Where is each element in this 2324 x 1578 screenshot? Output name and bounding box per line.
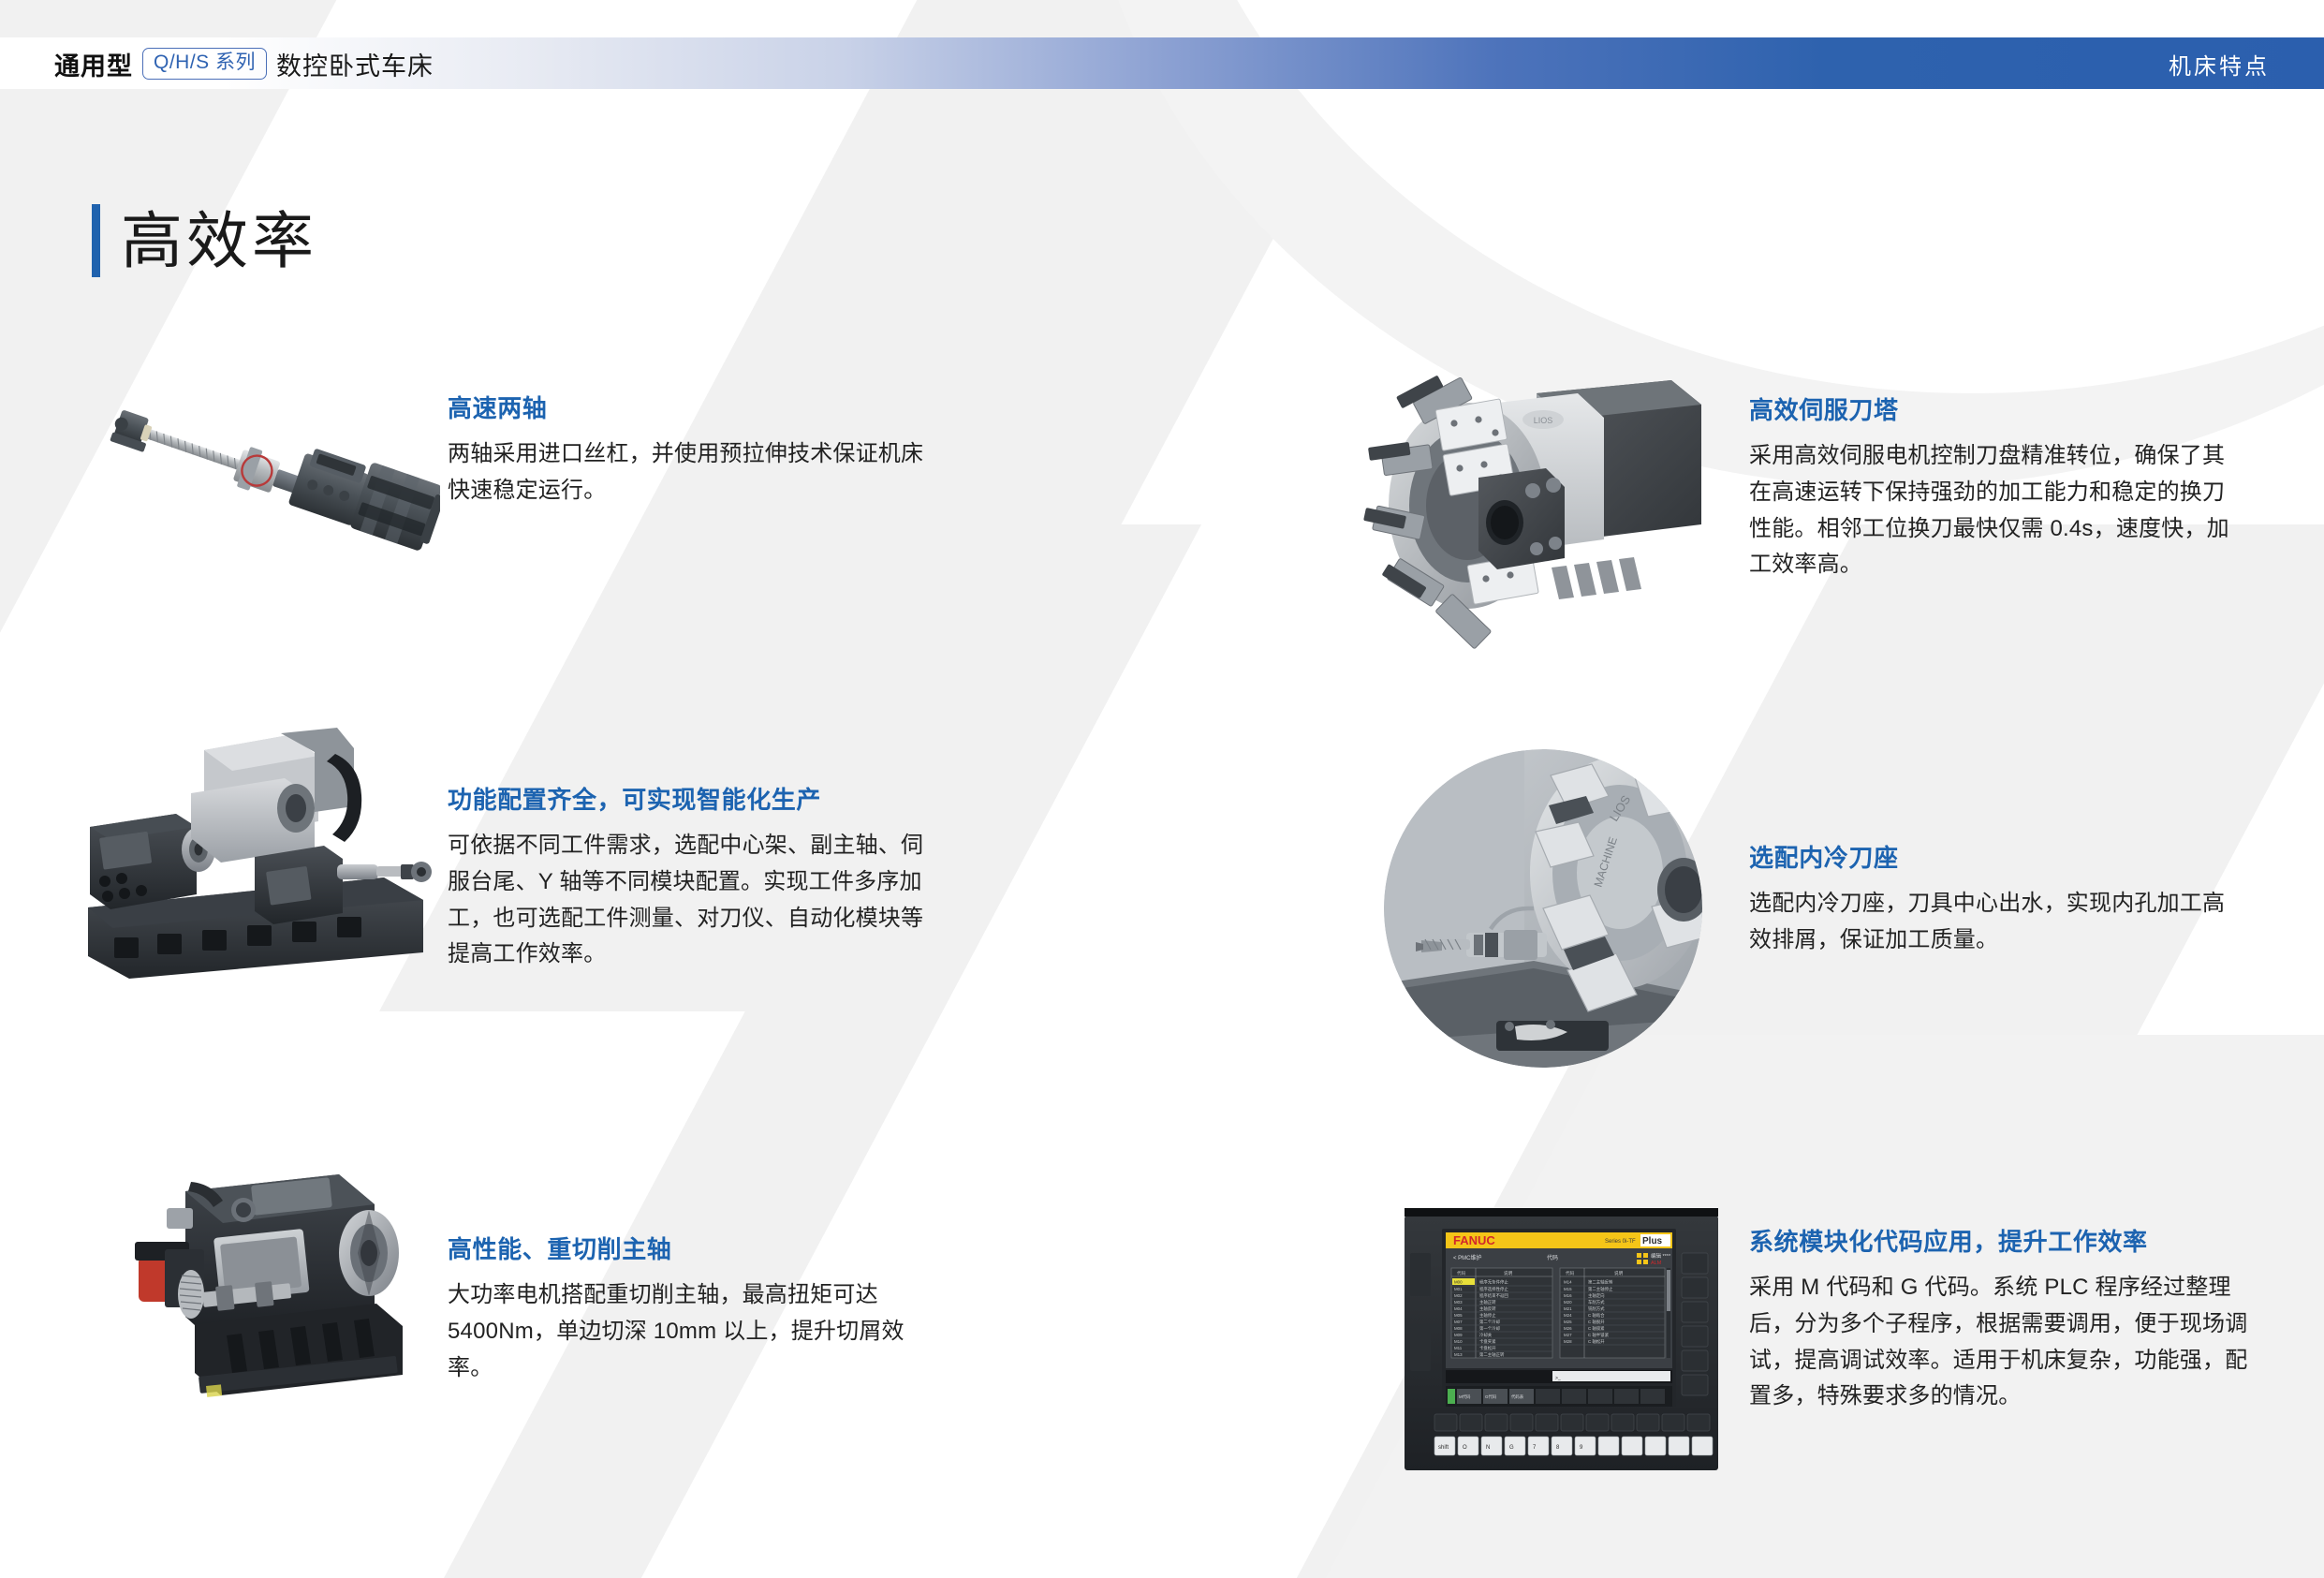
cnc-plus-label: Plus (1642, 1236, 1663, 1246)
svg-text:C 轴锁紧: C 轴锁紧 (1588, 1325, 1605, 1332)
feature-body: 两轴采用进口丝杠，并使用预拉伸技术保证机床快速稳定运行。 (448, 436, 934, 509)
svg-text:M代码: M代码 (1459, 1394, 1471, 1400)
svg-text:程序结束不返回: 程序结束不返回 (1479, 1292, 1508, 1299)
page-title: 高效率 (92, 204, 317, 277)
feature-body: 大功率电机搭配重切削主轴，最高扭矩可达 5400Nm，单边切深 10mm 以上，… (448, 1277, 944, 1387)
cnc-series-label: Series 0i-TF (1605, 1239, 1636, 1245)
heavy-cutting-spindle-photo (94, 1152, 431, 1405)
header-series-chip: Q/H/S 系列 (142, 48, 267, 80)
svg-text:代码表: 代码表 (1511, 1394, 1524, 1400)
svg-text:主轴反转: 主轴反转 (1479, 1305, 1496, 1312)
svg-text:O: O (1463, 1445, 1467, 1451)
feature-title: 系统模块化代码应用，提升工作效率 (1749, 1227, 2259, 1259)
svg-text:M21: M21 (1564, 1306, 1572, 1311)
feature-block-modular-code-system: 系统模块化代码应用，提升工作效率 采用 M 代码和 G 代码。系统 PLC 程序… (1749, 1227, 2259, 1415)
svg-text:铣削方式: 铣削方式 (1588, 1305, 1605, 1312)
svg-text:M02: M02 (1454, 1293, 1463, 1298)
header-brand-rest: 数控卧式车床 (276, 46, 434, 82)
svg-text:M20: M20 (1564, 1300, 1572, 1305)
svg-text:M00: M00 (1454, 1280, 1463, 1285)
svg-text:说明: 说明 (1614, 1270, 1624, 1276)
svg-text:卡盘松开: 卡盘松开 (1479, 1345, 1496, 1351)
section-accent-bar (92, 204, 100, 277)
svg-text:C 轴啮合: C 轴啮合 (1588, 1312, 1605, 1319)
svg-text:M11: M11 (1454, 1346, 1463, 1350)
svg-text:第二主轴正转: 第二主轴正转 (1479, 1351, 1505, 1358)
svg-text:C 轴松开: C 轴松开 (1588, 1338, 1605, 1345)
ball-screw-servo-axis-photo (66, 375, 440, 562)
feature-body: 可依据不同工件需求，选配中心架、副主轴、伺服台尾、Y 轴等不同模块配置。实现工件… (448, 828, 944, 974)
svg-text:程序选择性停止: 程序选择性停止 (1479, 1286, 1508, 1292)
svg-text:代码: 代码 (1457, 1270, 1466, 1276)
cnc-soft-keys: M代码 G代码 代码表 (1448, 1389, 1665, 1404)
svg-text:程序无条件停止: 程序无条件停止 (1479, 1279, 1508, 1286)
cnc-nav-label: < PMC维护 (1453, 1254, 1482, 1261)
feature-body: 采用 M 代码和 G 代码。系统 PLC 程序经过整理后，分为多个子程序，根据需… (1749, 1270, 2259, 1416)
feature-block-high-speed-two-axis: 高速两轴 两轴采用进口丝杠，并使用预拉伸技术保证机床快速稳定运行。 (448, 393, 934, 509)
svg-text:说明: 说明 (1504, 1270, 1513, 1276)
circular-photo-mask: LIOS MACHINE (1384, 749, 1702, 1068)
feature-block-high-performance-spindle: 高性能、重切削主轴 大功率电机搭配重切削主轴，最高扭矩可达 5400Nm，单边切… (448, 1234, 944, 1386)
svg-text:卡盘夹紧: 卡盘夹紧 (1479, 1338, 1496, 1345)
internal-coolant-tool-holder-photo: LIOS MACHINE (1384, 749, 1702, 1068)
svg-text:第二个冷却: 第二个冷却 (1479, 1319, 1501, 1325)
feature-title: 功能配置齐全，可实现智能化生产 (448, 785, 944, 817)
svg-text:M09: M09 (1454, 1333, 1463, 1337)
feature-title: 选配内冷刀座 (1749, 843, 2236, 875)
svg-text:M13: M13 (1454, 1352, 1463, 1357)
section-title-text: 高效率 (121, 210, 317, 272)
svg-text:M01: M01 (1454, 1287, 1463, 1291)
feature-title: 高效伺服刀塔 (1749, 395, 2241, 427)
header-brand-line: 通用型 Q/H/S 系列 数控卧式车床 (54, 39, 434, 88)
svg-text:G代码: G代码 (1485, 1394, 1497, 1400)
feature-block-internal-coolant-holder: 选配内冷刀座 选配内冷刀座，刀具中心出水，实现内孔加工高效排屑，保证加工质量。 (1749, 843, 2236, 959)
bg-diagonal-band-right (307, 524, 2324, 1578)
cnc-brand-label: FANUC (1453, 1233, 1495, 1247)
svg-text:M03: M03 (1454, 1300, 1463, 1305)
feature-body: 采用高效伺服电机控制刀盘精准转位，确保了其在高速运转下保持强劲的加工能力和稳定的… (1749, 438, 2241, 584)
header-brand-strong: 通用型 (54, 46, 133, 82)
svg-text:N: N (1486, 1445, 1490, 1451)
svg-text:主轴定向: 主轴定向 (1588, 1292, 1605, 1299)
svg-text:>_: >_ (1555, 1376, 1561, 1381)
svg-text:LIOS: LIOS (1534, 416, 1553, 425)
feature-title: 高速两轴 (448, 393, 934, 425)
feature-body: 选配内冷刀座，刀具中心出水，实现内孔加工高效排屑，保证加工质量。 (1749, 886, 2236, 959)
svg-text:M28: M28 (1564, 1339, 1572, 1344)
header-section-tab: 机床特点 (2169, 39, 2270, 88)
svg-text:编辑 ****: 编辑 **** (1651, 1252, 1671, 1260)
svg-text:C 轴半锁紧: C 轴半锁紧 (1588, 1332, 1610, 1338)
svg-text:M08: M08 (1454, 1326, 1463, 1331)
cnc-lathe-bed-module-photo (56, 707, 440, 988)
svg-text:M05: M05 (1454, 1313, 1463, 1318)
cnc-center-label: 代码 (1547, 1254, 1558, 1261)
svg-text:M10: M10 (1454, 1339, 1463, 1344)
svg-text:第二主轴反转: 第二主轴反转 (1588, 1279, 1613, 1286)
svg-text:车削方式: 车削方式 (1588, 1299, 1605, 1305)
svg-text:M16: M16 (1564, 1293, 1572, 1298)
svg-text:M25: M25 (1564, 1320, 1572, 1324)
svg-text:主轴停止: 主轴停止 (1479, 1312, 1496, 1319)
svg-text:M26: M26 (1564, 1326, 1572, 1331)
svg-text:冷却关: 冷却关 (1479, 1332, 1493, 1338)
svg-text:M14: M14 (1564, 1280, 1572, 1285)
svg-text:M27: M27 (1564, 1333, 1572, 1337)
feature-block-full-function-config: 功能配置齐全，可实现智能化生产 可依据不同工件需求，选配中心架、副主轴、伺服台尾… (448, 785, 944, 973)
svg-text:ALM: ALM (1651, 1261, 1662, 1266)
svg-text:M15: M15 (1564, 1287, 1572, 1291)
svg-text:shift: shift (1438, 1445, 1449, 1451)
cnc-function-keys (1434, 1414, 1710, 1431)
svg-text:G: G (1509, 1445, 1514, 1451)
svg-text:M07: M07 (1454, 1320, 1463, 1324)
svg-text:M04: M04 (1454, 1306, 1463, 1311)
feature-title: 高性能、重切削主轴 (448, 1234, 944, 1266)
svg-text:代码: 代码 (1566, 1270, 1575, 1276)
svg-text:第二主轴停止: 第二主轴停止 (1588, 1286, 1613, 1292)
svg-text:M24: M24 (1564, 1313, 1572, 1318)
servo-turret-photo: LIOS (1362, 365, 1714, 656)
svg-text:主轴正转: 主轴正转 (1479, 1299, 1496, 1305)
svg-text:第一个冷却: 第一个冷却 (1479, 1325, 1501, 1332)
fanuc-cnc-control-panel-photo[interactable]: FANUC Series 0i-TF Plus < PMC维护 代码 编辑 **… (1405, 1208, 1718, 1470)
svg-text:C 轴脱开: C 轴脱开 (1588, 1319, 1605, 1325)
feature-block-servo-turret: 高效伺服刀塔 采用高效伺服电机控制刀盘精准转位，确保了其在高速运转下保持强劲的加… (1749, 395, 2241, 583)
brochure-page: 通用型 Q/H/S 系列 数控卧式车床 机床特点 高效率 高速两轴 两轴采用进口… (0, 0, 2324, 1578)
